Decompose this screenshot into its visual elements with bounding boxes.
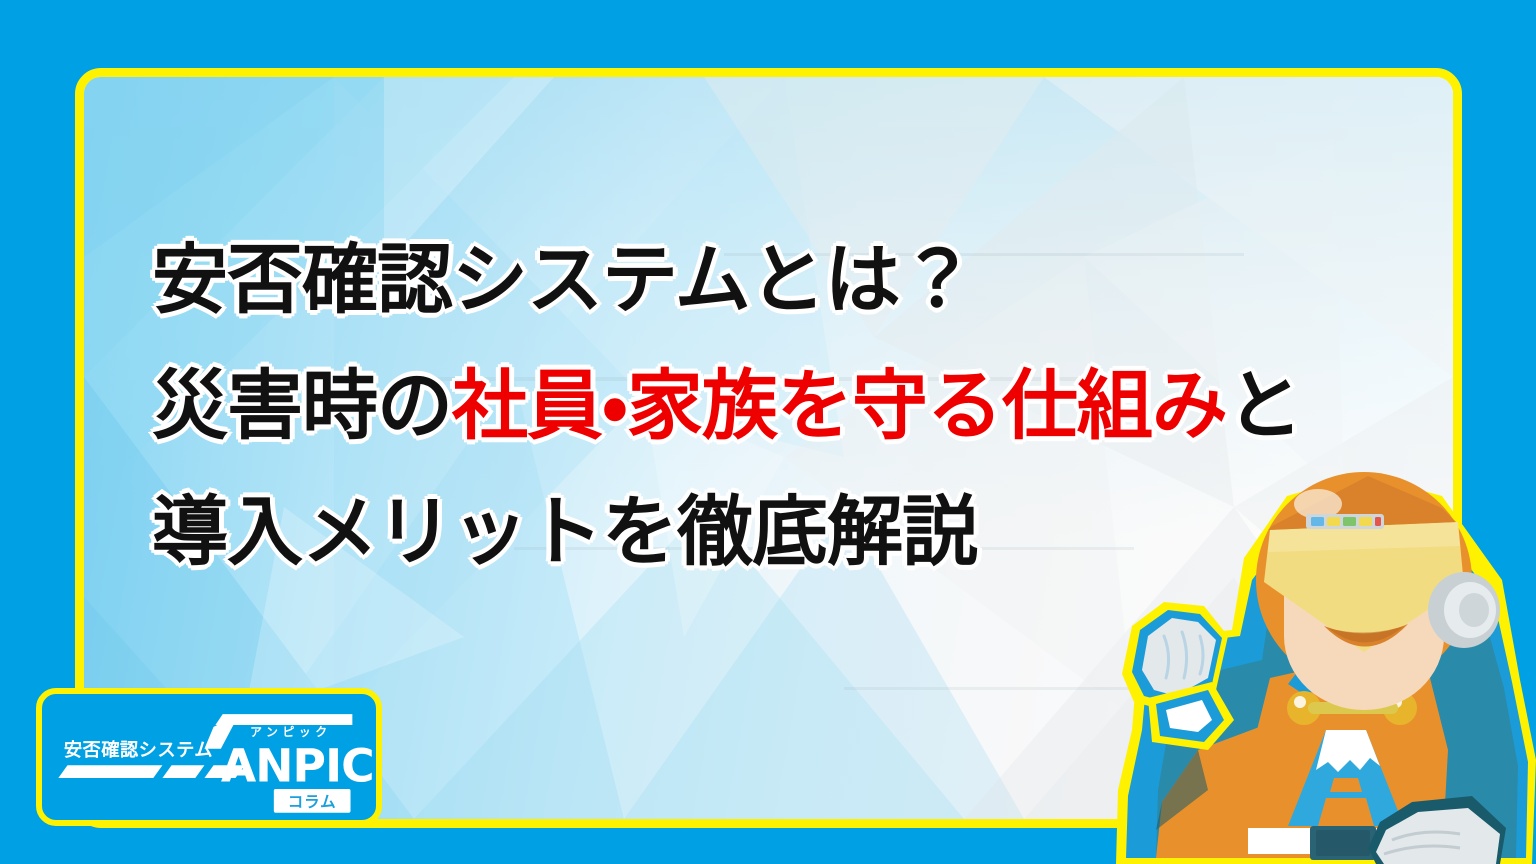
headline-line-2-emphasis: 社員・家族を守る仕組み xyxy=(452,361,1227,450)
headline-line-3: 導入メリットを徹底解説 xyxy=(152,469,1382,595)
banner-root: 安否確認システムとは？ 災害時の社員・家族を守る仕組みと 導入メリットを徹底解説… xyxy=(0,0,1536,864)
headline-line-1-text: 安否確認システムとは？ xyxy=(152,235,975,324)
logo-column-badge-label: コラム xyxy=(288,793,337,811)
headline-line-2: 災害時の社員・家族を守る仕組みと xyxy=(152,343,1382,469)
headline-line-1: 安否確認システムとは？ xyxy=(152,217,1382,343)
headline-line-2-suffix: と xyxy=(1227,361,1302,450)
headline-line-3-text: 導入メリットを徹底解説 xyxy=(152,487,977,576)
logo-service-name: 安否確認システム xyxy=(64,739,213,761)
headline-line-2-prefix: 災害時の xyxy=(152,361,452,450)
anpic-logo-badge[interactable]: 安否確認システム アンピック ANPIC コラム xyxy=(36,688,382,826)
mascot-belt xyxy=(1248,826,1448,860)
page-title: 安否確認システムとは？ 災害時の社員・家族を守る仕組みと 導入メリットを徹底解説 xyxy=(152,217,1382,595)
logo-brand-furigana: アンピック xyxy=(250,725,332,739)
logo-brand-wordmark: ANPIC xyxy=(221,740,374,793)
